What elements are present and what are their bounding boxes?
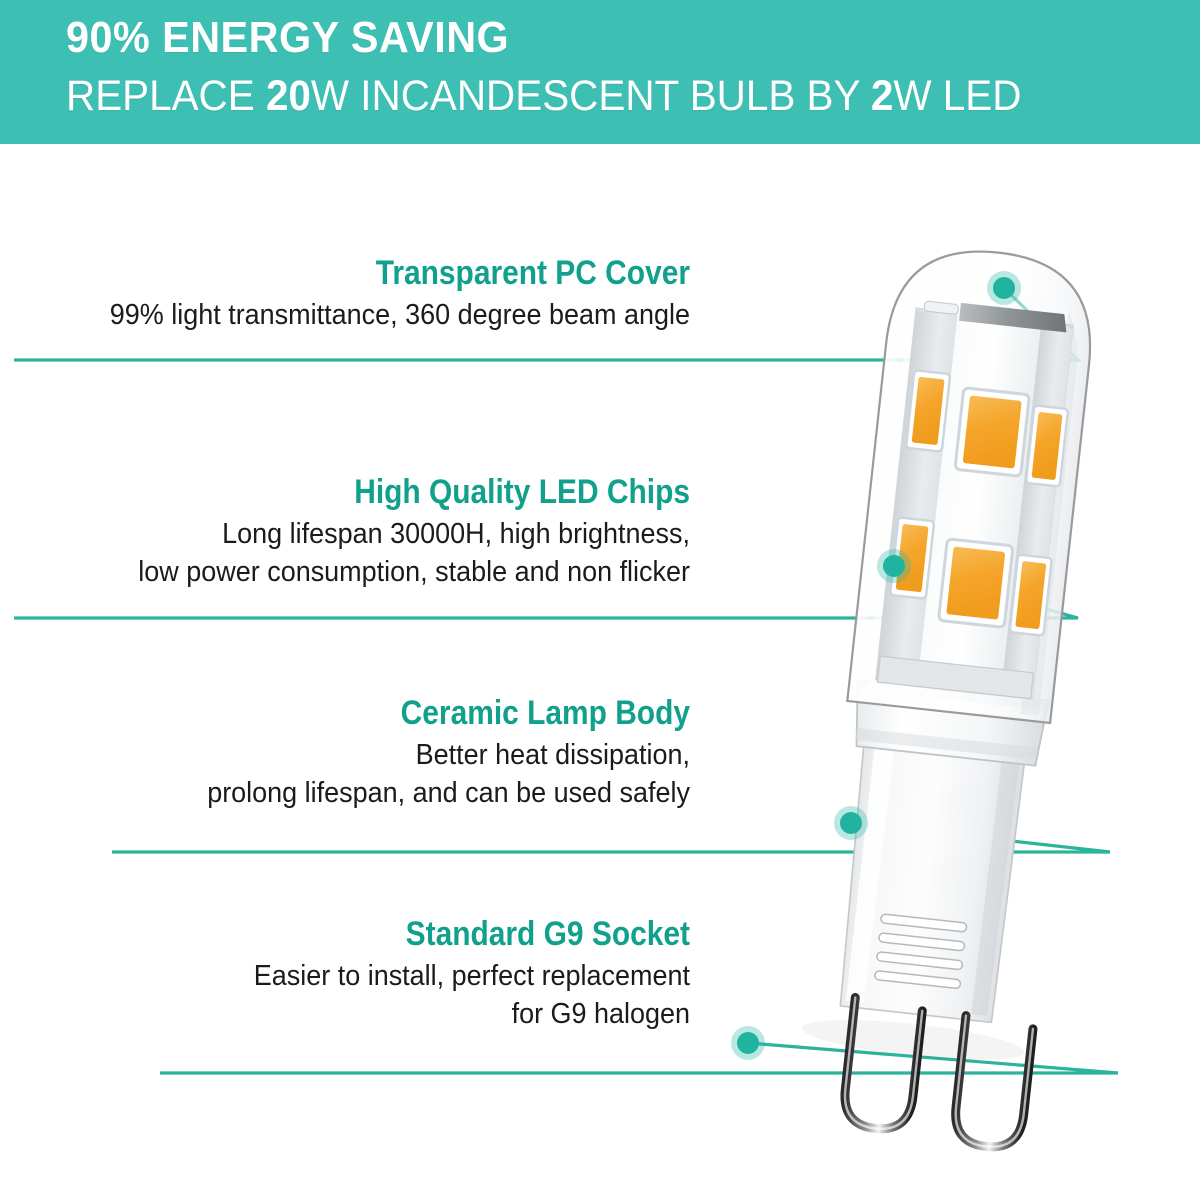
marker-dot-ceramic-body[interactable]: [840, 812, 862, 834]
marker-dot-g9-socket[interactable]: [737, 1032, 759, 1054]
marker-dot-led-chips[interactable]: [883, 555, 905, 577]
led-chip: [939, 539, 1013, 628]
infographic-canvas: 90% ENERGY SAVING REPLACE 20W INCANDESCE…: [0, 0, 1200, 1200]
marker-dot-pc-cover[interactable]: [993, 277, 1015, 299]
product-illustration: [0, 0, 1200, 1200]
led-chip: [906, 370, 950, 451]
led-chip: [1026, 405, 1068, 486]
bulb-assembly: [791, 241, 1116, 1151]
led-chip: [1010, 555, 1052, 636]
led-chip: [955, 388, 1029, 477]
